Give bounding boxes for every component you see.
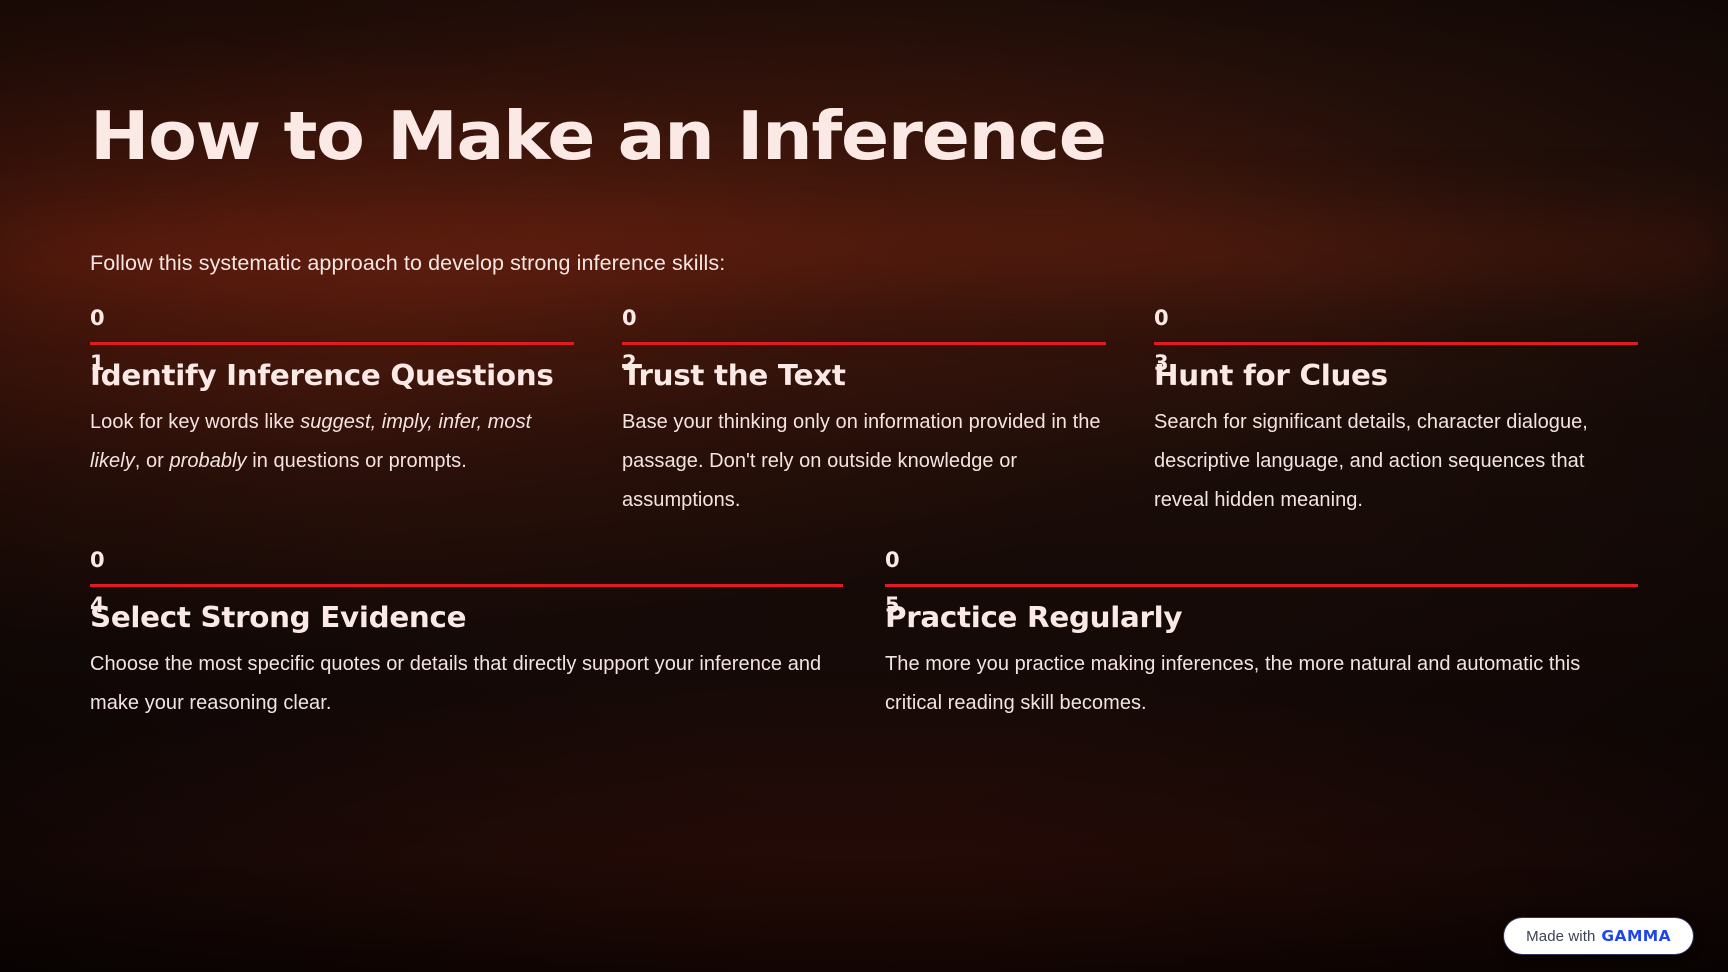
step-divider-rule	[90, 342, 574, 345]
step-card-2: 0 2 Trust the Text Base your thinking on…	[622, 308, 1106, 520]
step-number-bottom: 1	[90, 353, 105, 374]
step-divider-rule	[622, 342, 1106, 345]
step-body: Search for significant details, characte…	[1154, 403, 1638, 520]
made-with-gamma-badge[interactable]: Made with GAMMA	[1504, 918, 1693, 954]
step-body: The more you practice making inferences,…	[885, 645, 1638, 723]
step-number-top: 0	[885, 550, 1638, 571]
step-heading-group: 4 Select Strong Evidence	[90, 601, 843, 639]
step-body: Look for key words like suggest, imply, …	[90, 403, 574, 481]
step-number-top: 0	[90, 308, 574, 329]
step-title: Hunt for Clues	[1154, 359, 1653, 394]
step-number-bottom: 4	[90, 595, 105, 616]
steps-row-bottom: 0 4 Select Strong Evidence Choose the mo…	[90, 550, 1638, 723]
step-heading-group: 1 Identify Inference Questions	[90, 359, 574, 397]
badge-prefix-label: Made with	[1526, 928, 1595, 945]
step-card-5: 0 5 Practice Regularly The more you prac…	[885, 550, 1638, 723]
step-card-4: 0 4 Select Strong Evidence Choose the mo…	[90, 550, 843, 723]
slide-content: How to Make an Inference Follow this sys…	[0, 0, 1728, 972]
step-number-bottom: 3	[1154, 353, 1169, 374]
steps-grid: 0 1 Identify Inference Questions Look fo…	[90, 308, 1638, 723]
step-title: Trust the Text	[622, 359, 1121, 394]
step-number-top: 0	[1154, 308, 1638, 329]
step-number-top: 0	[90, 550, 843, 571]
step-body: Choose the most specific quotes or detai…	[90, 645, 843, 723]
step-card-3: 0 3 Hunt for Clues Search for significan…	[1154, 308, 1638, 520]
steps-row-top: 0 1 Identify Inference Questions Look fo…	[90, 308, 1638, 520]
step-number-bottom: 5	[885, 595, 900, 616]
gamma-brand-label: GAMMA	[1601, 927, 1671, 945]
step-body: Base your thinking only on information p…	[622, 403, 1106, 520]
step-divider-rule	[90, 584, 843, 587]
step-heading-group: 5 Practice Regularly	[885, 601, 1638, 639]
page-title: How to Make an Inference	[90, 101, 1106, 171]
step-divider-rule	[1154, 342, 1638, 345]
step-heading-group: 2 Trust the Text	[622, 359, 1106, 397]
step-title: Identify Inference Questions	[90, 359, 589, 394]
step-divider-rule	[885, 584, 1638, 587]
step-number-top: 0	[622, 308, 1106, 329]
step-card-1: 0 1 Identify Inference Questions Look fo…	[90, 308, 574, 520]
step-number-bottom: 2	[622, 353, 637, 374]
step-title: Practice Regularly	[885, 601, 1661, 636]
step-heading-group: 3 Hunt for Clues	[1154, 359, 1638, 397]
intro-text: Follow this systematic approach to devel…	[90, 247, 725, 279]
step-title: Select Strong Evidence	[90, 601, 866, 636]
